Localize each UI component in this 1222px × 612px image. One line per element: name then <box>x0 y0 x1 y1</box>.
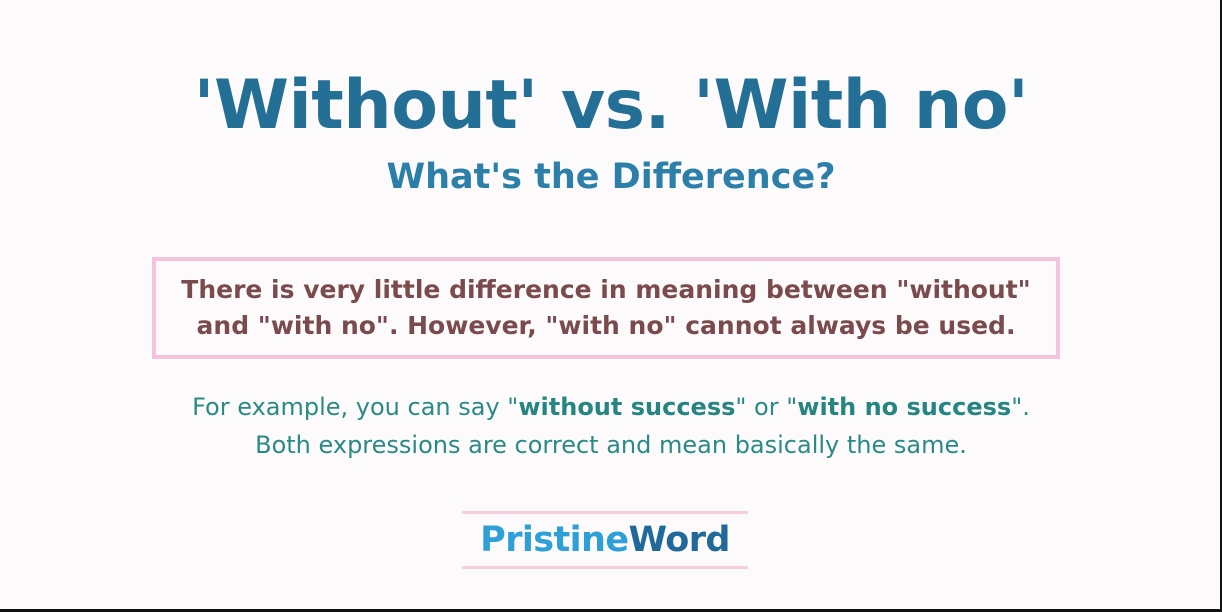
example-line-1: For example, you can say "without succes… <box>0 389 1222 427</box>
page-subtitle: What's the Difference? <box>0 140 1222 195</box>
logo-word-word: Word <box>629 520 730 560</box>
example-line-2: Both expressions are correct and mean ba… <box>0 427 1222 465</box>
logo-word-pristine: Pristine <box>480 520 628 560</box>
callout-text: There is very little difference in meani… <box>156 272 1056 345</box>
infographic-page: 'Without' vs. 'With no' What's the Diffe… <box>0 0 1222 612</box>
logo-rule-bottom <box>462 566 748 569</box>
example-bold-without-success: without success <box>518 393 735 421</box>
page-title: 'Without' vs. 'With no' <box>0 72 1222 140</box>
logo-text: PristineWord <box>462 514 748 566</box>
example-block: For example, you can say "without succes… <box>0 389 1222 465</box>
callout-box: There is very little difference in meani… <box>152 257 1060 359</box>
example-middle: " or " <box>735 393 797 421</box>
title-block: 'Without' vs. 'With no' What's the Diffe… <box>0 72 1222 195</box>
example-suffix: ". <box>1011 393 1030 421</box>
example-prefix: For example, you can say " <box>192 393 518 421</box>
example-bold-with-no-success: with no success <box>797 393 1011 421</box>
brand-logo[interactable]: PristineWord <box>462 511 748 569</box>
